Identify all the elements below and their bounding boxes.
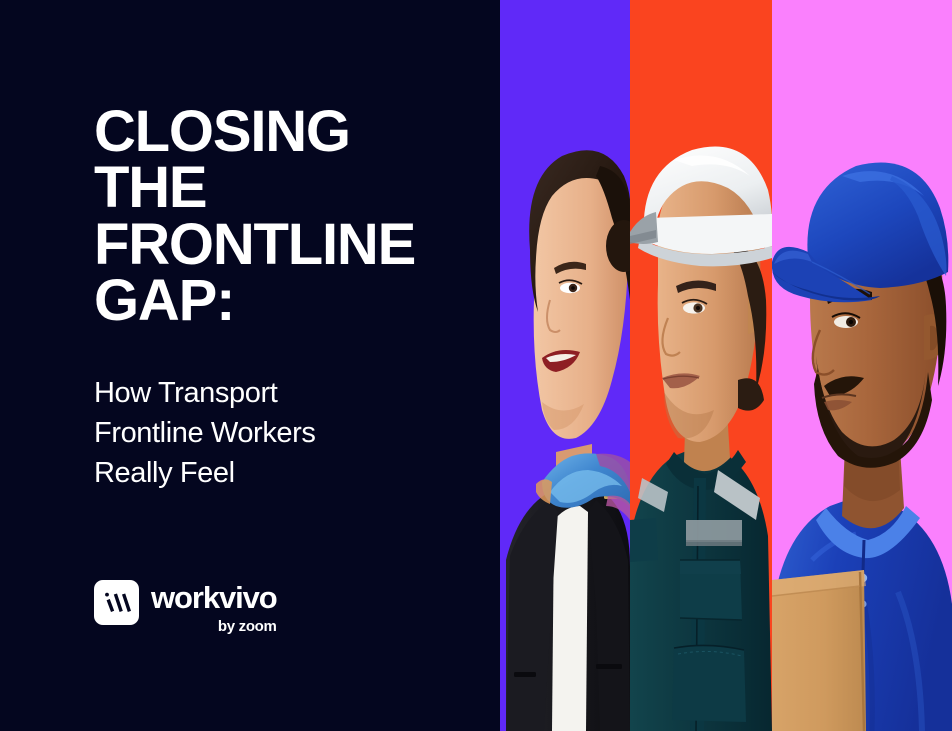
- panel-delivery-driver: [772, 0, 952, 731]
- delivery-driver-figure: [772, 0, 952, 731]
- panel-industrial-worker: [630, 0, 772, 731]
- headline-line-4: GAP:: [94, 273, 494, 329]
- subtitle-line-1: How Transport: [94, 373, 474, 413]
- page-subtitle: How Transport Frontline Workers Really F…: [94, 373, 474, 493]
- workvivo-logo: workvivo by zoom: [94, 580, 277, 634]
- page-title: CLOSING THE FRONTLINE GAP:: [94, 104, 494, 329]
- headline-line-3: FRONTLINE: [94, 217, 494, 273]
- image-panel-group: [500, 0, 952, 731]
- headline-line-2: THE: [94, 160, 494, 216]
- flight-attendant-figure: [500, 0, 630, 731]
- subtitle-line-2: Frontline Workers: [94, 413, 474, 453]
- workvivo-logo-mark-icon: [94, 580, 139, 625]
- industrial-worker-figure: [630, 0, 772, 731]
- logo-byline: by zoom: [218, 619, 277, 634]
- text-column: CLOSING THE FRONTLINE GAP: How Transport…: [0, 0, 500, 731]
- headline-line-1: CLOSING: [94, 104, 494, 160]
- subtitle-line-3: Really Feel: [94, 453, 474, 493]
- logo-wordmark: workvivo: [151, 582, 277, 613]
- report-cover: CLOSING THE FRONTLINE GAP: How Transport…: [0, 0, 952, 731]
- panel-flight-attendant: [500, 0, 630, 731]
- logo-text-group: workvivo by zoom: [151, 580, 277, 634]
